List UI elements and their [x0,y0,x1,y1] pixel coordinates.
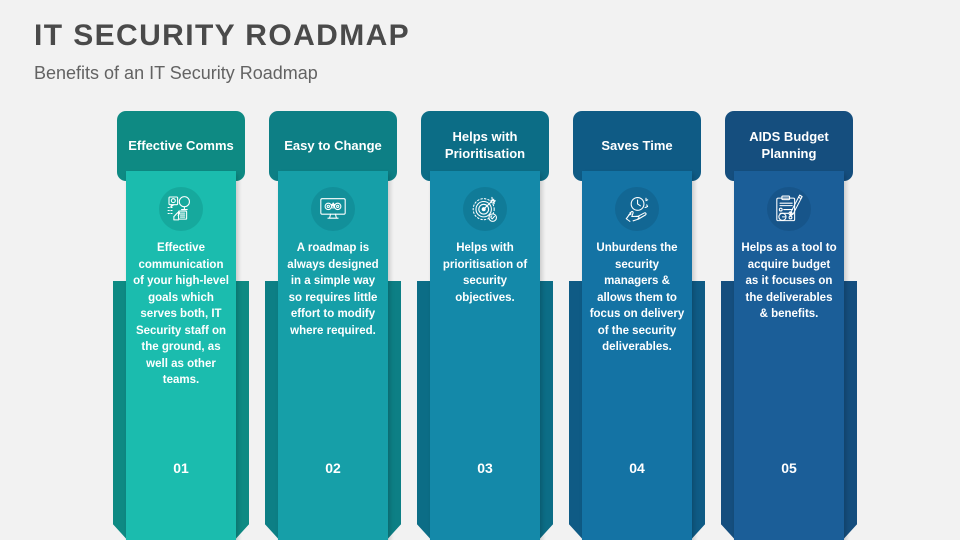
monitor-settings-icon [311,187,355,231]
column-number: 01 [105,460,257,476]
column-description: Helps as a tool to acquire budget as it … [738,240,840,323]
column-title: Easy to Change [284,138,382,155]
column-title: Saves Time [601,138,672,155]
clock-hand-icon [615,187,659,231]
page-title: IT SECURITY ROADMAP [34,18,410,54]
roadmap-columns: Effective Comms Effective communication … [105,111,865,491]
column-body: Helps as a tool to acquire budget as it … [734,171,844,540]
column-title: Effective Comms [128,138,233,155]
slide-canvas: IT SECURITY ROADMAP Benefits of an IT Se… [0,0,960,540]
column-body: A roadmap is always designed in a simple… [278,171,388,540]
column-body: Effective communication of your high-lev… [126,171,236,540]
column-number: 04 [561,460,713,476]
column-description: A roadmap is always designed in a simple… [282,240,384,339]
search-communication-icon [159,187,203,231]
column-title: AIDS Budget Planning [731,129,847,162]
title-block: IT SECURITY ROADMAP Benefits of an IT Se… [34,18,410,84]
column-number: 05 [713,460,865,476]
target-arrow-icon [463,187,507,231]
roadmap-column[interactable]: AIDS Budget Planning Helps as a tool to … [713,111,865,491]
roadmap-column[interactable]: Effective Comms Effective communication … [105,111,257,491]
column-body: Unburdens the security managers & allows… [582,171,692,540]
column-description: Effective communication of your high-lev… [130,240,232,389]
column-description: Helps with prioritisation of security ob… [434,240,536,306]
column-body: Helps with prioritisation of security ob… [430,171,540,540]
column-number: 02 [257,460,409,476]
roadmap-column[interactable]: Easy to Change A roadmap is always desig… [257,111,409,491]
roadmap-column[interactable]: Saves Time Unburdens the security manage… [561,111,713,491]
roadmap-column[interactable]: Helps with Prioritisation Helps with pri… [409,111,561,491]
column-description: Unburdens the security managers & allows… [586,240,688,356]
clipboard-pen-icon [767,187,811,231]
column-title: Helps with Prioritisation [427,129,543,162]
column-number: 03 [409,460,561,476]
page-subtitle: Benefits of an IT Security Roadmap [34,63,410,84]
